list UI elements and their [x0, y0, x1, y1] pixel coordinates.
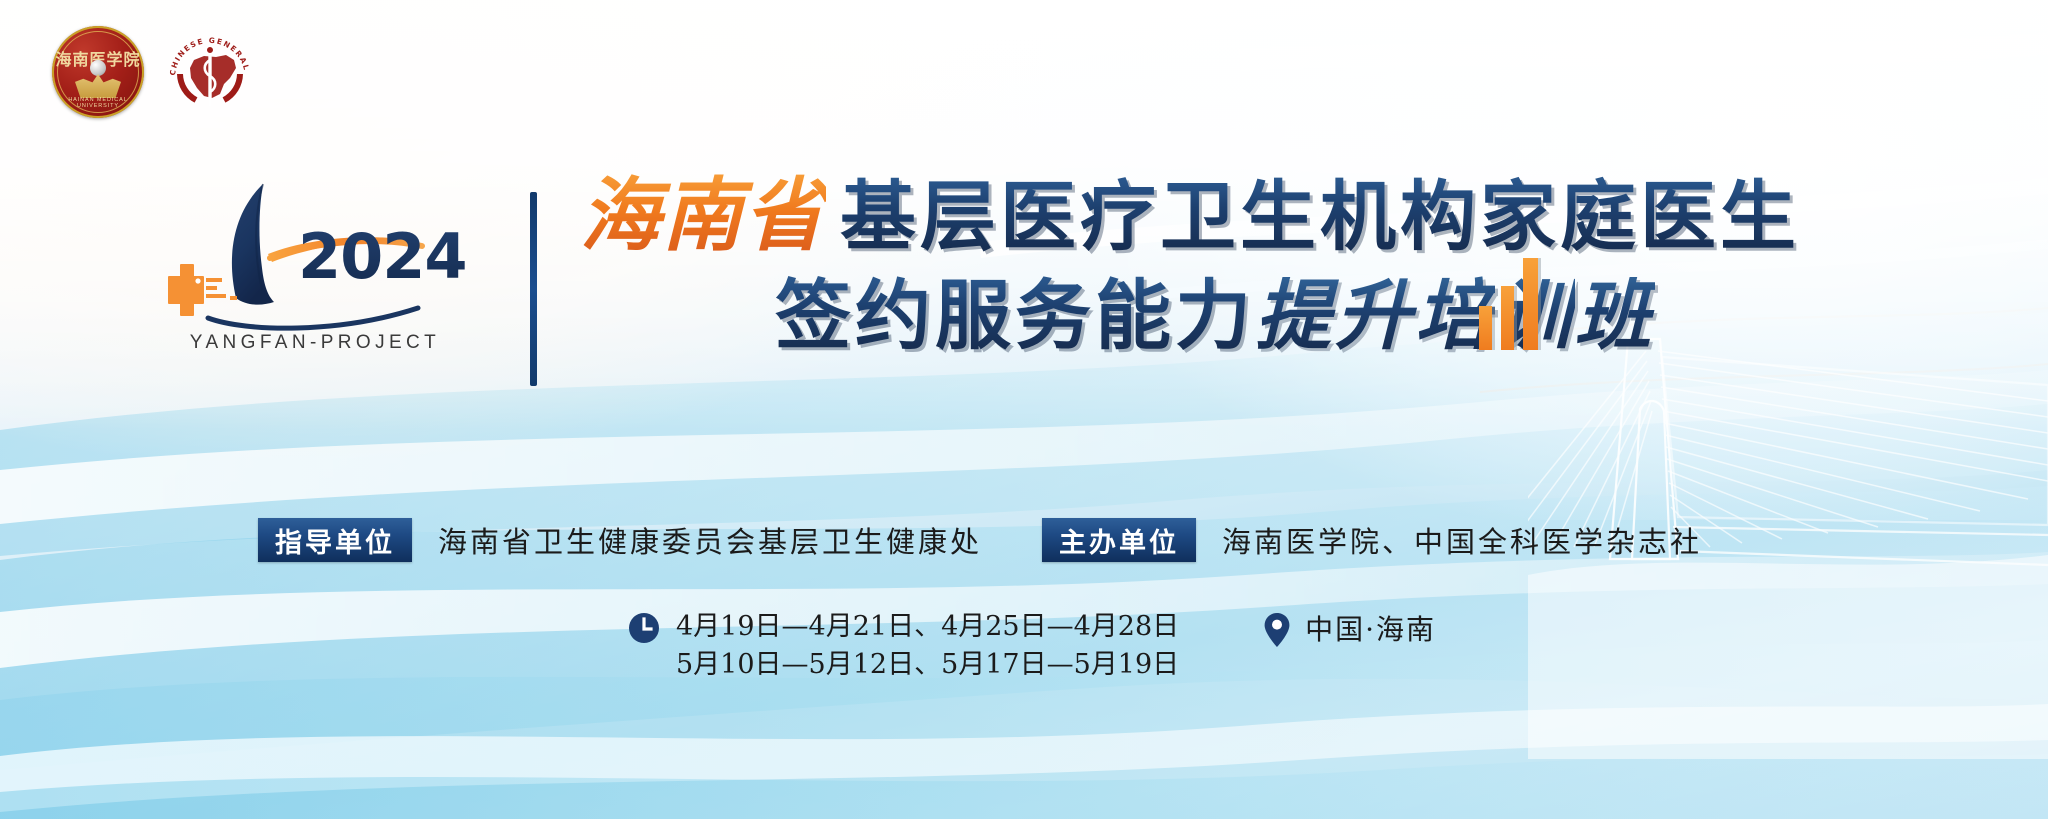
event-meta-row: 4月19日—4月21日、4月25日—4月28日 5月10日—5月12日、5月17… [628, 608, 1436, 685]
background-waves [0, 0, 2048, 819]
chinese-general-practice-logo-icon: CHINESE GENERAL PRACTICE [164, 26, 256, 118]
title-line-1: 海南省基层医疗卫生机构家庭医生 [580, 175, 1810, 256]
guidance-unit-badge: 指导单位 [258, 518, 412, 562]
institution-logos: 海南医学院 HAINAN MEDICAL UNIVERSITY CHINESE … [52, 26, 256, 118]
title-main-2d: 班 [1575, 271, 1655, 360]
svg-text:2024: 2024 [298, 220, 467, 293]
host-unit-badge: 主办单位 [1042, 518, 1196, 562]
title-divider [530, 192, 537, 386]
title-line-2: 签约服务能力提升培训班 [580, 278, 1810, 355]
seal-pearl [90, 60, 106, 76]
clock-icon [628, 612, 660, 644]
title-main-2a: 签约服务能力 [775, 271, 1255, 360]
map-pin-icon [1263, 612, 1291, 648]
event-title: 海南省基层医疗卫生机构家庭医生 签约服务能力提升培训班 [580, 175, 1810, 355]
event-location-text: 中国·海南 [1305, 608, 1436, 648]
title-province: 海南省 [580, 168, 826, 262]
seal-en-text: HAINAN MEDICAL UNIVERSITY [52, 97, 144, 109]
event-dates-line-2: 5月10日—5月12日、5月17日—5月19日 [676, 649, 1179, 680]
host-unit-name: 海南医学院、中国全科医学杂志社 [1222, 519, 1702, 561]
yangfan-project-caption: YANGFAN-PROJECT [150, 332, 480, 354]
title-main-2b: 提升培 [1255, 271, 1495, 360]
event-dates-line-1: 4月19日—4月21日、4月25日—4月28日 [676, 611, 1179, 642]
yangfan-sail-mark: 2024 [150, 150, 480, 340]
event-banner: 海南医学院 HAINAN MEDICAL UNIVERSITY CHINESE … [0, 0, 2048, 819]
hainan-medical-university-seal-icon: 海南医学院 HAINAN MEDICAL UNIVERSITY [52, 26, 144, 118]
organizer-row: 指导单位 海南省卫生健康委员会基层卫生健康处 主办单位 海南医学院、中国全科医学… [258, 518, 1702, 562]
event-dates-text: 4月19日—4月21日、4月25日—4月28日 5月10日—5月12日、5月17… [676, 608, 1179, 685]
event-dates: 4月19日—4月21日、4月25日—4月28日 5月10日—5月12日、5月17… [628, 608, 1179, 685]
yangfan-project-logo: 2024 YANGFAN-PROJECT [150, 150, 480, 380]
event-location: 中国·海南 [1263, 608, 1436, 648]
guidance-unit-name: 海南省卫生健康委员会基层卫生健康处 [438, 519, 982, 561]
title-main-1: 基层医疗卫生机构家庭医生 [840, 172, 1800, 261]
